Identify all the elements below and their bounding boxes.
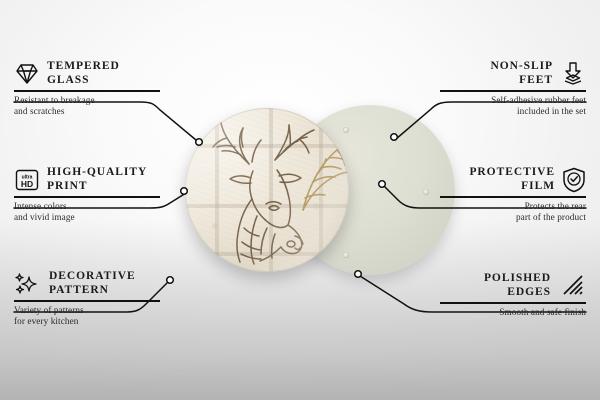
diagonal-lines-icon bbox=[558, 274, 586, 298]
feature-title-line2: FEET bbox=[519, 74, 553, 88]
feature-desc-line1: Protects the rear bbox=[440, 201, 586, 213]
sparkles-icon bbox=[14, 272, 42, 296]
glass-reflection bbox=[185, 108, 349, 272]
ultra-hd-icon: ultra HD bbox=[14, 168, 40, 192]
feature-title-line2: PATTERN bbox=[49, 284, 136, 298]
feature-header: ultra HD HIGH-QUALITY PRINT bbox=[14, 166, 160, 193]
feature-desc-line1: Intense colors bbox=[14, 201, 160, 213]
feature-description: Smooth and safe finish bbox=[440, 307, 586, 319]
feature-title-line1: DECORATIVE bbox=[49, 270, 136, 284]
feature-decorative-pattern: DECORATIVE PATTERN Variety of patterns f… bbox=[14, 270, 160, 328]
feature-non-slip-feet: NON-SLIP FEET Self-adhesive rubber feet … bbox=[440, 60, 586, 118]
feature-title-line2: EDGES bbox=[507, 286, 551, 300]
feature-header: POLISHED EDGES bbox=[440, 272, 586, 299]
feature-title-line1: POLISHED bbox=[484, 272, 551, 286]
feature-desc-line2: part of the product bbox=[440, 212, 586, 224]
feature-title-line1: NON-SLIP bbox=[490, 60, 553, 74]
rubber-foot bbox=[423, 189, 429, 195]
feature-protective-film: PROTECTIVE FILM Protects the rear part o… bbox=[440, 166, 586, 224]
product-feature-infographic: TEMPERED GLASS Resistant to breakage and… bbox=[0, 0, 600, 400]
feature-desc-line2: for every kitchen bbox=[14, 316, 160, 328]
feature-polished-edges: POLISHED EDGES Smooth and safe finish bbox=[440, 272, 586, 318]
feature-tempered-glass: TEMPERED GLASS Resistant to breakage and… bbox=[14, 60, 160, 118]
feature-divider bbox=[14, 90, 160, 92]
feature-divider bbox=[440, 90, 586, 92]
feature-title-line1: HIGH-QUALITY bbox=[47, 166, 147, 180]
shield-check-icon bbox=[562, 167, 586, 193]
feature-divider bbox=[440, 196, 586, 198]
feature-high-quality-print: ultra HD HIGH-QUALITY PRINT Intense colo… bbox=[14, 166, 160, 224]
feature-desc-line2: and scratches bbox=[14, 106, 160, 118]
feature-description: Intense colors and vivid image bbox=[14, 201, 160, 224]
diamond-icon bbox=[14, 62, 40, 86]
feature-title-line1: PROTECTIVE bbox=[469, 166, 555, 180]
feature-desc-line1: Smooth and safe finish bbox=[440, 307, 586, 319]
feature-desc-line2: and vivid image bbox=[14, 212, 160, 224]
feature-title-line2: FILM bbox=[521, 180, 555, 194]
feature-header: TEMPERED GLASS bbox=[14, 60, 160, 87]
feature-description: Resistant to breakage and scratches bbox=[14, 95, 160, 118]
feature-description: Variety of patterns for every kitchen bbox=[14, 305, 160, 328]
feature-description: Self-adhesive rubber feet included in th… bbox=[440, 95, 586, 118]
feature-title-line2: PRINT bbox=[47, 180, 147, 194]
feature-desc-line1: Self-adhesive rubber feet bbox=[440, 95, 586, 107]
feature-header: DECORATIVE PATTERN bbox=[14, 270, 160, 297]
feature-header: PROTECTIVE FILM bbox=[440, 166, 586, 193]
feature-header: NON-SLIP FEET bbox=[440, 60, 586, 87]
feature-desc-line2: included in the set bbox=[440, 106, 586, 118]
feature-title-line2: GLASS bbox=[47, 74, 120, 88]
ultra-hd-large-text: HD bbox=[21, 179, 33, 189]
feature-divider bbox=[14, 196, 160, 198]
arrow-down-onto-base-icon bbox=[560, 61, 586, 86]
feature-title-line1: TEMPERED bbox=[47, 60, 120, 74]
glass-board-front-disc bbox=[185, 108, 349, 272]
feature-divider bbox=[14, 300, 160, 302]
feature-description: Protects the rear part of the product bbox=[440, 201, 586, 224]
feature-desc-line1: Variety of patterns bbox=[14, 305, 160, 317]
feature-desc-line1: Resistant to breakage bbox=[14, 95, 160, 107]
feature-divider bbox=[440, 302, 586, 304]
